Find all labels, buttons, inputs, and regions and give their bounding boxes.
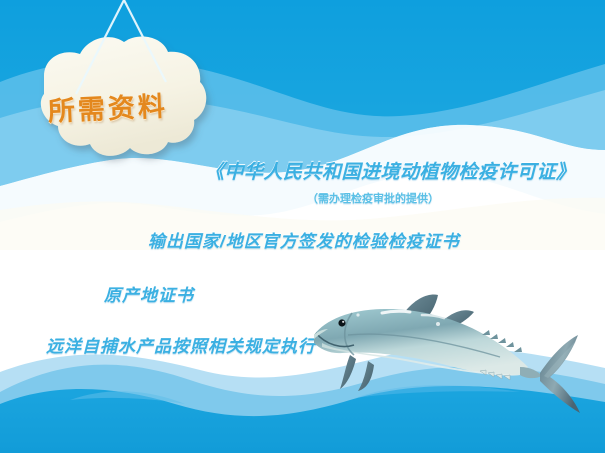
- requirement-item-1: 《中华人民共和国进境动植物检疫许可证》: [205, 157, 576, 184]
- requirements-list: 《中华人民共和国进境动植物检疫许可证》 （需办理检疫审批的提供） 输出国家/地区…: [0, 0, 605, 453]
- requirement-item-4: 远洋自捕水产品按照相关规定执行: [46, 332, 316, 357]
- requirement-item-1-note: （需办理检疫审批的提供）: [307, 190, 439, 206]
- requirement-item-3: 原产地证书: [104, 281, 194, 306]
- poster-canvas: 所需资料 《中华人民共和国进境动植物检疫许可证》 （需办理检疫审批的提供） 输出…: [0, 0, 605, 453]
- requirement-item-2: 输出国家/地区官方签发的检验检疫证书: [148, 227, 460, 252]
